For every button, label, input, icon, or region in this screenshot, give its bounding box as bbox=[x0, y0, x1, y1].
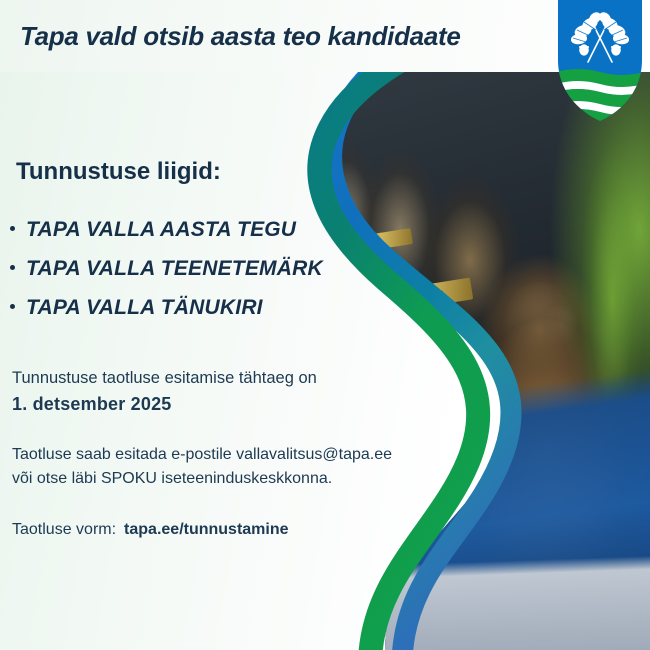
header-bar: Tapa vald otsib aasta teo kandidaate bbox=[0, 0, 650, 72]
deadline-date: 1. detsember 2025 bbox=[12, 394, 172, 415]
award-type-label: TAPA VALLA TÄNUKIRI bbox=[26, 296, 263, 320]
poster: Aasta Tegu Tapa vald otsib aasta te bbox=[0, 0, 650, 650]
award-type-label: TAPA VALLA TEENETEMÄRK bbox=[26, 257, 323, 281]
contact-line-2: või otse läbi SPOKU iseteeninduskeskkonn… bbox=[12, 470, 332, 488]
bullet-dot-icon bbox=[10, 226, 15, 231]
contact-line-1: Taotluse saab esitada e-postile vallaval… bbox=[12, 446, 392, 464]
bullet-dot-icon bbox=[10, 265, 15, 270]
form-url[interactable]: tapa.ee/tunnustamine bbox=[124, 521, 288, 538]
tapa-vald-coat-of-arms-icon bbox=[556, 0, 644, 122]
page-title: Tapa vald otsib aasta teo kandidaate bbox=[20, 21, 461, 52]
award-type-label: TAPA VALLA AASTA TEGU bbox=[26, 218, 296, 242]
bullet-dot-icon bbox=[10, 304, 15, 309]
list-item: TAPA VALLA TÄNUKIRI bbox=[10, 296, 323, 320]
form-label: Taotluse vorm: bbox=[12, 521, 116, 538]
list-item: TAPA VALLA TEENETEMÄRK bbox=[10, 257, 323, 281]
award-types-list: TAPA VALLA AASTA TEGU TAPA VALLA TEENETE… bbox=[10, 218, 323, 335]
list-item: TAPA VALLA AASTA TEGU bbox=[10, 218, 323, 242]
form-line: Taotluse vorm:tapa.ee/tunnustamine bbox=[12, 521, 289, 539]
deadline-label: Tunnustuse taotluse esitamise tähtaeg on bbox=[12, 369, 317, 388]
awards-heading: Tunnustuse liigid: bbox=[16, 158, 221, 186]
